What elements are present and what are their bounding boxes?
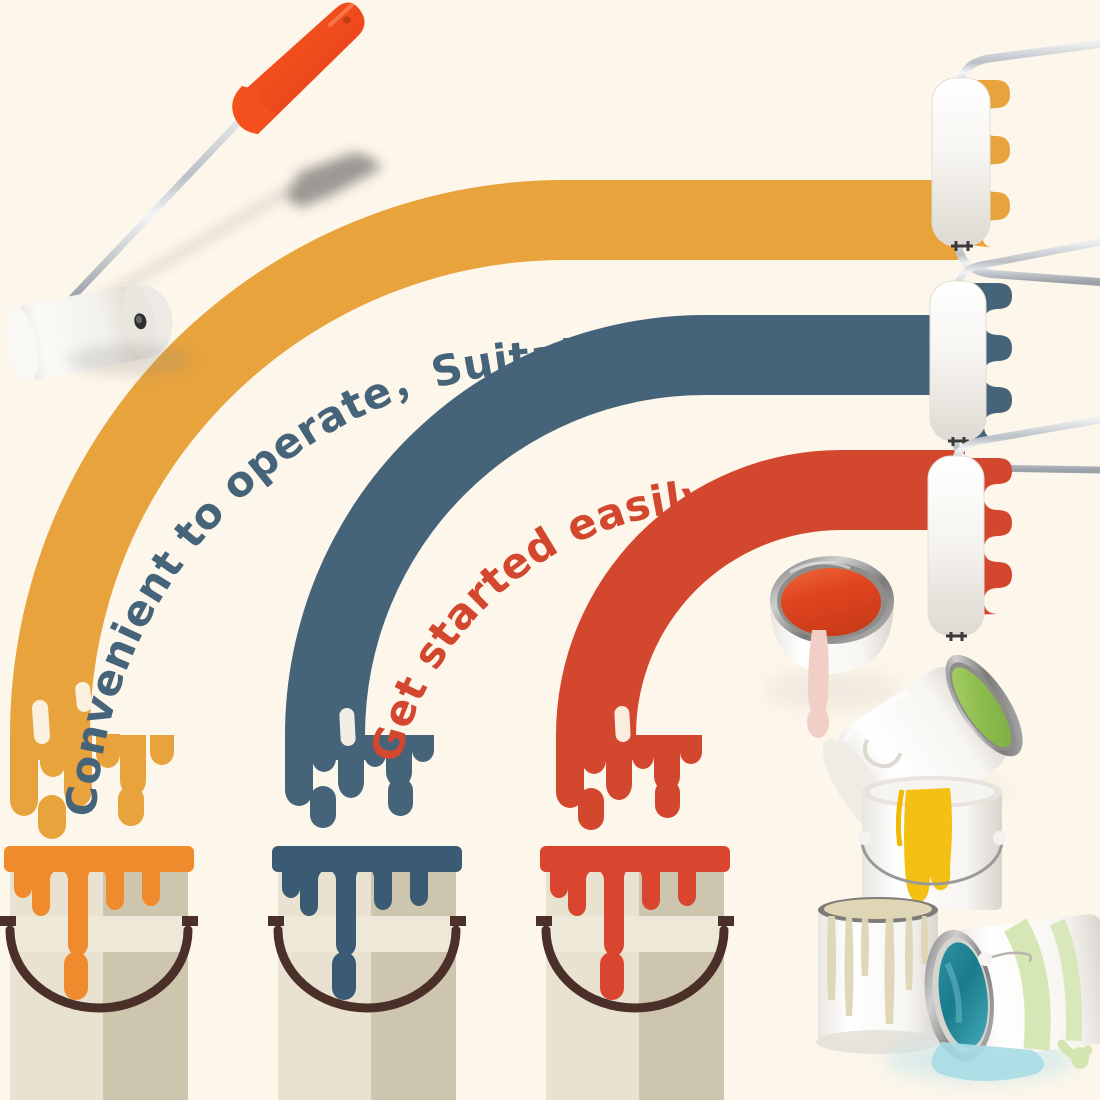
bucket-blue xyxy=(268,846,466,1100)
arc-red-drips xyxy=(556,735,702,830)
bucket-red xyxy=(536,846,734,1100)
roller-sleeve-bottom xyxy=(928,456,984,636)
roller-handle xyxy=(232,2,364,134)
roller-sleeve-top xyxy=(932,78,990,246)
roller-sleeve-middle xyxy=(930,281,986,441)
roller-sleeve-shadow xyxy=(68,344,192,376)
roller-rod xyxy=(70,110,250,300)
can-yellow xyxy=(857,776,1007,910)
can-cream xyxy=(816,897,940,1054)
artwork-svg: Convenient to operate，Suitable for all a… xyxy=(0,0,1100,1100)
poster-canvas: Convenient to operate，Suitable for all a… xyxy=(0,0,1100,1100)
bucket-orange xyxy=(0,846,198,1100)
roller-shadow xyxy=(285,152,382,208)
